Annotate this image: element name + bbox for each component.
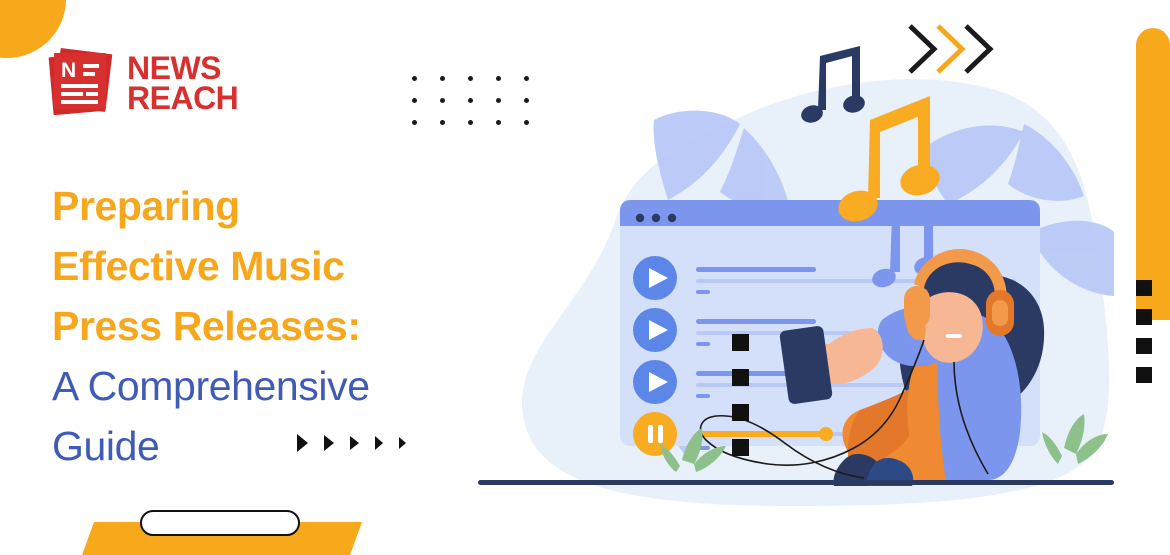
right-edge-bar (1136, 28, 1170, 320)
window-titlebar (620, 200, 1040, 226)
brand-name-line2: REACH (127, 83, 238, 113)
triangle-arrow-icon (375, 436, 383, 450)
window-dot-2 (652, 214, 660, 222)
triangle-arrow-icon (399, 437, 406, 449)
grid-dot (412, 76, 417, 81)
brand-wordmark: NEWS REACH (127, 53, 238, 114)
hero-illustration (468, 28, 1114, 528)
edge-square (1136, 367, 1152, 383)
grid-dot (440, 98, 445, 103)
triangle-arrow-icon (324, 435, 334, 451)
triangle-arrows-decoration (297, 434, 406, 452)
banner-pill-outline (140, 510, 300, 536)
title-line-1: Preparing (52, 176, 482, 236)
poster-canvas: N NEWS REACH Preparing Effective Music P… (0, 0, 1170, 555)
pause-button-4 (633, 412, 677, 456)
illustration-svg (468, 28, 1114, 528)
brand-logo[interactable]: N NEWS REACH (48, 48, 238, 118)
title-line-5: Guide (52, 416, 482, 476)
edge-square (1136, 338, 1152, 354)
triangle-arrow-icon (350, 436, 359, 450)
ground-line (478, 480, 1114, 485)
window-dot-3 (668, 214, 676, 222)
headphone-cup-left (904, 286, 930, 328)
title-line-4: A Comprehensive (52, 356, 482, 416)
edge-square (1136, 309, 1152, 325)
illustration-squares-decoration (732, 334, 749, 474)
progress-fill-4 (696, 431, 824, 437)
page-title: Preparing Effective Music Press Releases… (52, 176, 482, 476)
illustration-square (732, 369, 749, 386)
pause-icon-4a (648, 425, 653, 443)
mouth (946, 334, 962, 338)
newspaper-icon: N (48, 48, 114, 118)
grid-dot (412, 120, 417, 125)
pause-icon-4b (658, 425, 663, 443)
grid-dot (440, 120, 445, 125)
title-line-3: Press Releases: (52, 296, 482, 356)
illustration-square (732, 404, 749, 421)
illustration-square (732, 334, 749, 351)
brand-name-line1: NEWS (127, 53, 238, 83)
illustration-square (732, 439, 749, 456)
title-line-2: Effective Music (52, 236, 482, 296)
progress-knob-4 (819, 427, 833, 441)
logo-letter: N (61, 61, 80, 80)
triangle-arrow-icon (297, 434, 308, 452)
grid-dot (412, 98, 417, 103)
edge-square (1136, 280, 1152, 296)
window-dot-1 (636, 214, 644, 222)
right-edge-squares (1136, 280, 1152, 396)
grid-dot (440, 76, 445, 81)
